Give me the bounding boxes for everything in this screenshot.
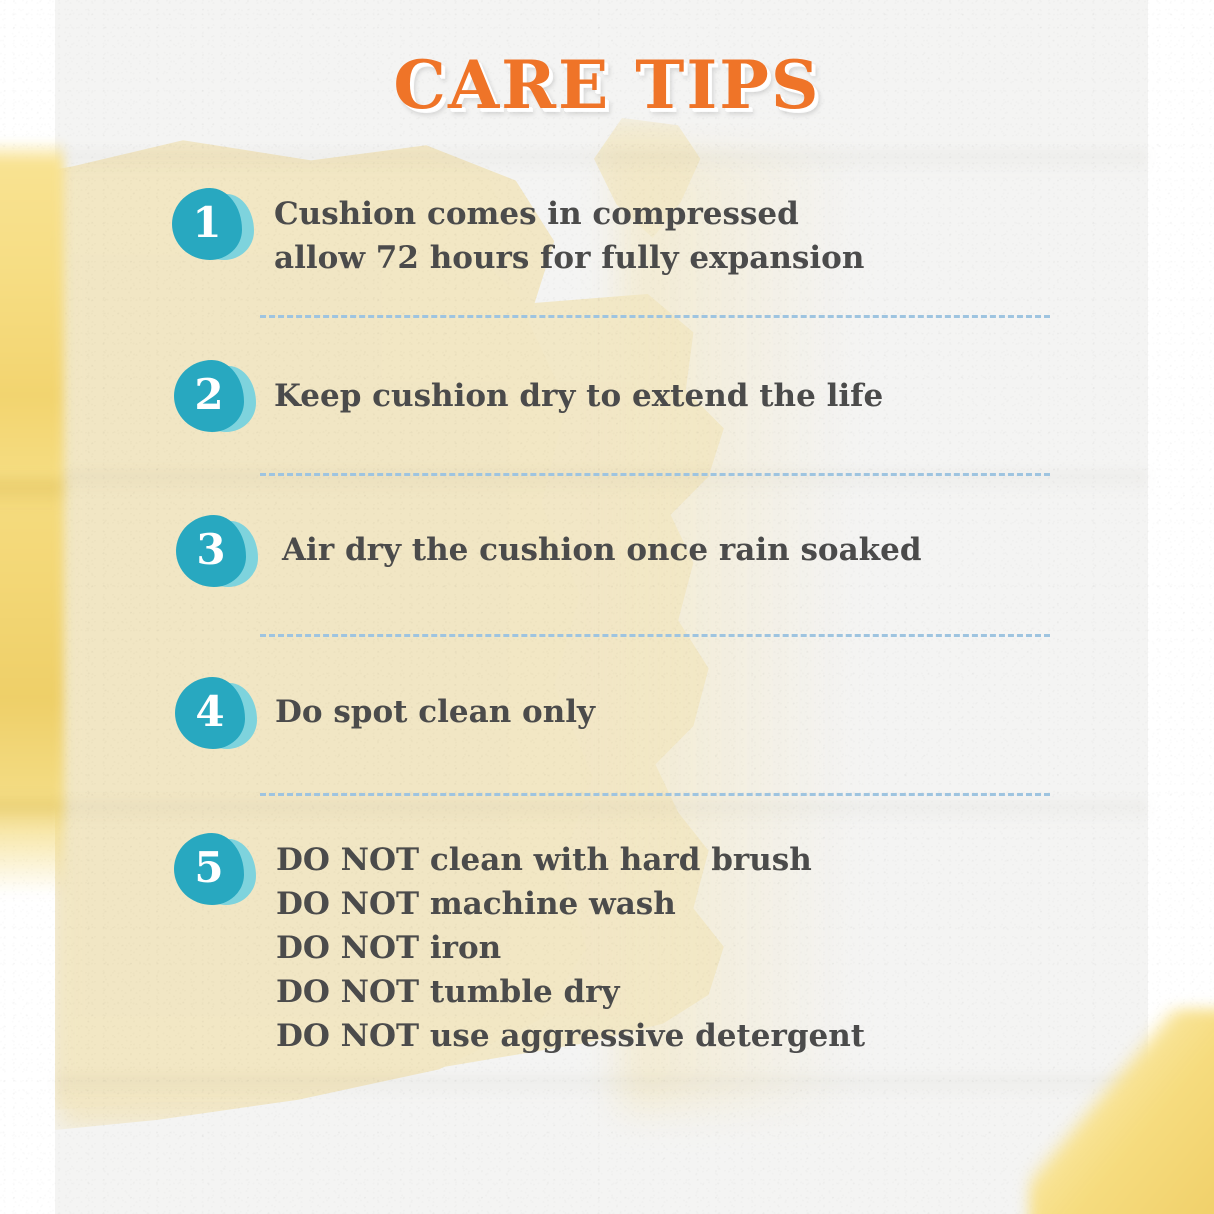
tip-text-line: DO NOT clean with hard brush xyxy=(276,838,865,882)
tip-item-1: 1 Cushion comes in compressed allow 72 h… xyxy=(172,188,864,280)
tip-item-2: 2 Keep cushion dry to extend the life xyxy=(174,360,883,438)
tip-number-badge-4: 4 xyxy=(175,677,253,755)
tip-number-badge-2: 2 xyxy=(174,360,252,438)
divider-3 xyxy=(260,634,1050,637)
tip-text-line: DO NOT machine wash xyxy=(276,882,865,926)
divider-2 xyxy=(260,473,1050,476)
tip-text-line: allow 72 hours for fully expansion xyxy=(274,236,864,280)
tip-text-3: Air dry the cushion once rain soaked xyxy=(282,528,922,572)
tip-number-badge-5: 5 xyxy=(174,833,252,911)
tip-text-4: Do spot clean only xyxy=(275,690,595,734)
tip-text-line: Air dry the cushion once rain soaked xyxy=(282,528,922,572)
tip-text-line: DO NOT iron xyxy=(276,926,865,970)
tip-text-2: Keep cushion dry to extend the life xyxy=(274,374,883,418)
tip-text-1: Cushion comes in compressed allow 72 hou… xyxy=(274,192,864,280)
tip-number-5: 5 xyxy=(174,833,244,905)
tip-number-2: 2 xyxy=(174,360,244,432)
tip-text-line: DO NOT use aggressive detergent xyxy=(276,1014,865,1058)
tip-text-line: Do spot clean only xyxy=(275,690,595,734)
tip-number-3: 3 xyxy=(176,515,246,587)
tip-item-4: 4 Do spot clean only xyxy=(175,677,595,755)
care-tips-poster: CARE TIPS 1 Cushion comes in compressed … xyxy=(0,0,1214,1214)
divider-1 xyxy=(260,315,1050,318)
tip-text-line: Keep cushion dry to extend the life xyxy=(274,374,883,418)
tip-number-1: 1 xyxy=(172,188,242,260)
tip-number-4: 4 xyxy=(175,677,245,749)
tip-text-line: Cushion comes in compressed xyxy=(274,192,864,236)
tip-text-line: DO NOT tumble dry xyxy=(276,970,865,1014)
tips-list: 1 Cushion comes in compressed allow 72 h… xyxy=(0,0,1214,1214)
divider-4 xyxy=(260,793,1050,796)
tip-number-badge-1: 1 xyxy=(172,188,250,266)
tip-number-badge-3: 3 xyxy=(176,515,254,593)
tip-text-5: DO NOT clean with hard brush DO NOT mach… xyxy=(276,838,865,1058)
tip-item-5: 5 DO NOT clean with hard brush DO NOT ma… xyxy=(174,833,865,1058)
tip-item-3: 3 Air dry the cushion once rain soaked xyxy=(176,515,922,593)
